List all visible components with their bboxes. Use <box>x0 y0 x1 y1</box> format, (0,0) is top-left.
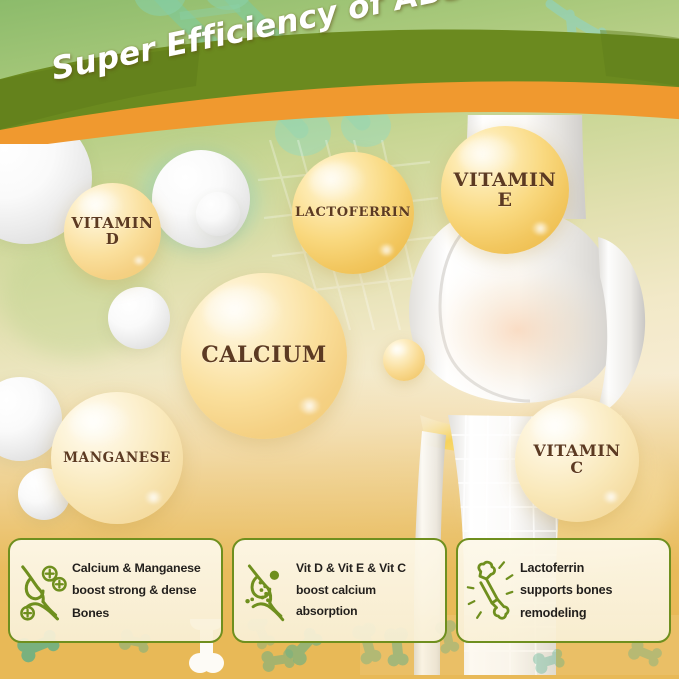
card-text: Calcium & Manganese boost strong & dense… <box>69 557 215 623</box>
card-line: boost calcium <box>296 580 439 602</box>
card-line: absorption <box>296 601 439 623</box>
headline-text: Super Efficiency of ABSORPTION <box>48 0 643 88</box>
bubble-label: VITAMINE <box>454 170 557 210</box>
card-text: Lactoferrin supports bones remodeling <box>517 557 663 624</box>
card-line: supports bones <box>520 579 663 601</box>
knee-joint-dots-icon <box>241 556 293 626</box>
bubble-calcium[interactable]: CALCIUM <box>181 273 347 439</box>
card-calcium-manganese[interactable]: Calcium & Manganese boost strong & dense… <box>8 538 223 643</box>
bubble-label: VITAMIND <box>71 216 153 248</box>
feature-cards: Calcium & Manganese boost strong & dense… <box>8 538 671 643</box>
bone-remodeling-icon <box>465 556 517 626</box>
card-line: remodeling <box>520 602 663 624</box>
bubble-manganese[interactable]: MANGANESE <box>51 392 183 524</box>
card-lactoferrin[interactable]: Lactoferrin supports bones remodeling <box>456 538 671 643</box>
card-line: boost strong & dense <box>72 579 215 601</box>
bubble-label: LACTOFERRIN <box>295 206 411 220</box>
card-line: Calcium & Manganese <box>72 557 215 579</box>
knee-joint-plus-icon <box>17 556 69 626</box>
bubble-label: MANGANESE <box>63 451 171 465</box>
card-line: Vit D & Vit E & Vit C <box>296 558 439 580</box>
white-sphere <box>108 287 170 349</box>
bubble-small-decorative <box>383 339 425 381</box>
bubble-label: CALCIUM <box>201 344 327 367</box>
dna-watermark-right <box>540 0 679 130</box>
card-text: Vit D & Vit E & Vit C boost calcium abso… <box>293 558 439 623</box>
card-line: Bones <box>72 602 215 624</box>
bubble-lactoferrin[interactable]: LACTOFERRIN <box>292 152 414 274</box>
bubble-vitamin-e[interactable]: VITAMINE <box>441 126 569 254</box>
bubble-label: VITAMINC <box>533 443 620 477</box>
infographic-canvas: Super Efficiency of ABSORPTION VITAMIND … <box>0 0 679 679</box>
white-sphere <box>196 192 240 236</box>
card-vitamins[interactable]: Vit D & Vit E & Vit C boost calcium abso… <box>232 538 447 643</box>
card-line: Lactoferrin <box>520 557 663 579</box>
bubble-vitamin-c[interactable]: VITAMINC <box>515 398 639 522</box>
bubble-vitamin-d[interactable]: VITAMIND <box>64 183 161 280</box>
